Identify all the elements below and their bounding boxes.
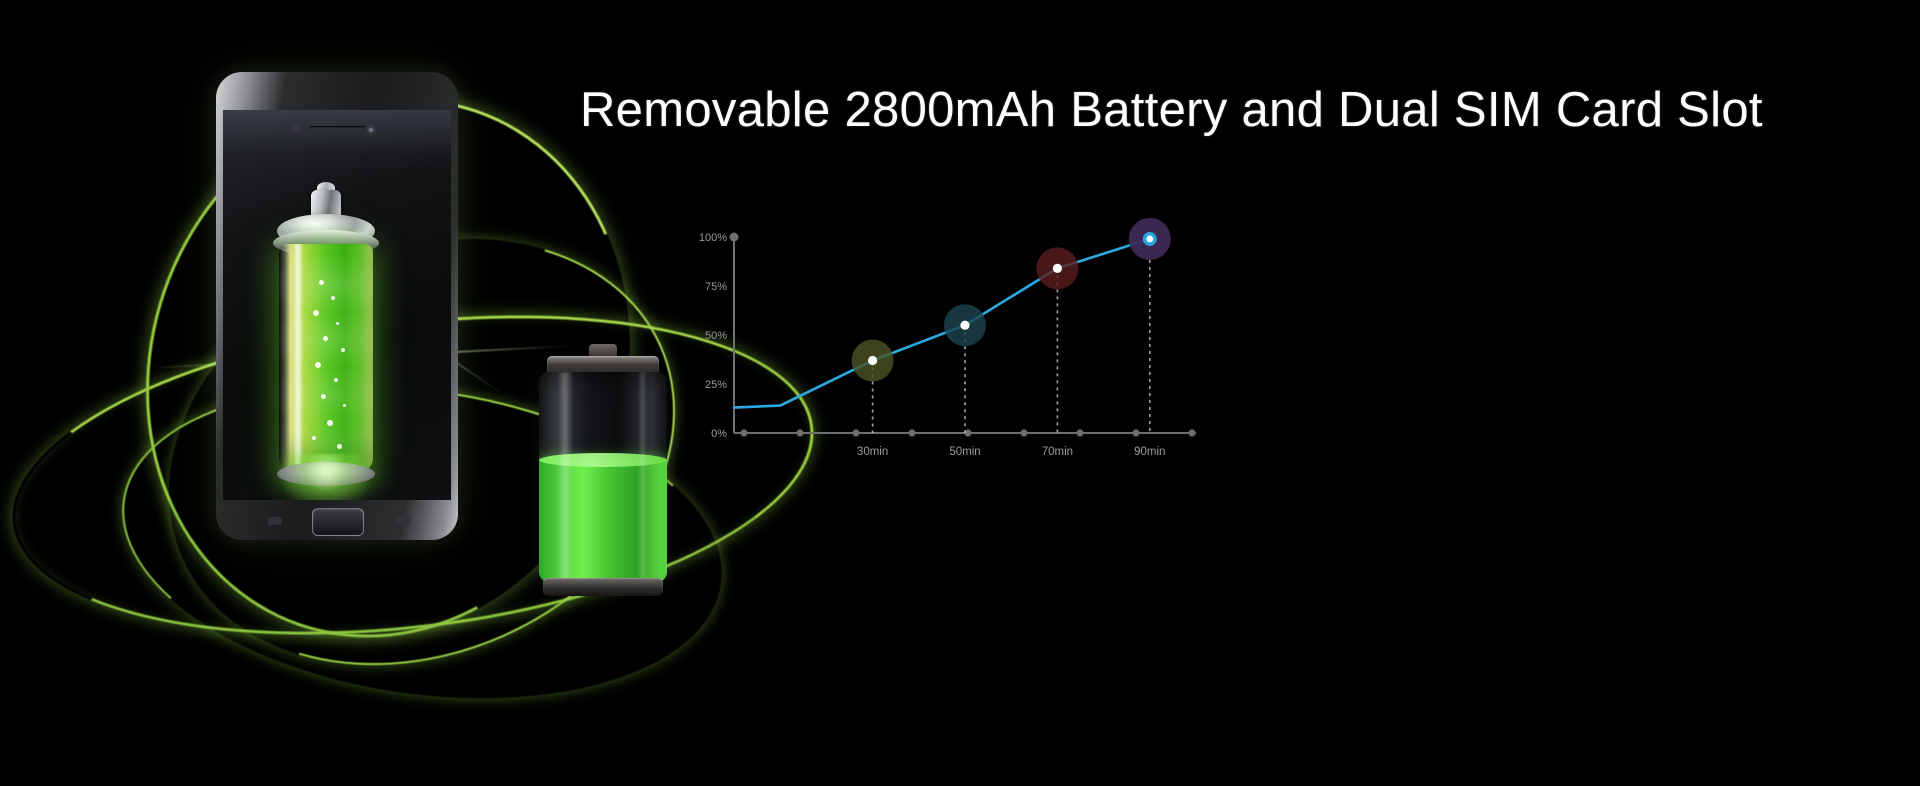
bubble (323, 336, 328, 341)
smartphone (216, 72, 458, 540)
nav-key-left[interactable] (268, 517, 282, 525)
point-halos (852, 218, 1171, 382)
y-axis-cap-dot (730, 233, 739, 242)
x-axis-dot (740, 429, 747, 436)
bubble (336, 322, 339, 325)
battery2-gloss-right (638, 372, 647, 582)
x-tick-70min: 70min (1042, 446, 1073, 458)
data-point-90min[interactable] (1146, 236, 1153, 243)
charging-speed-chart: 0%25%50%75%100% 30min50min70min90min (690, 215, 1210, 475)
x-axis-dot (852, 429, 859, 436)
x-axis-tick-labels: 30min50min70min90min (857, 446, 1166, 458)
y-tick-25%: 25% (705, 379, 727, 391)
bubble (315, 362, 321, 368)
battery2-shell (539, 372, 667, 582)
earpiece-speaker-icon (309, 126, 365, 131)
bubble (312, 436, 316, 440)
data-point-50min[interactable] (960, 321, 969, 330)
nav-key-right[interactable] (396, 517, 410, 525)
battery2-gloss-left (557, 372, 573, 582)
battery2-bottom-cap (543, 578, 663, 596)
bubble (331, 296, 335, 300)
phone-screen (223, 110, 451, 500)
data-point-70min[interactable] (1053, 264, 1062, 273)
y-tick-0%: 0% (711, 428, 727, 440)
bubble (313, 310, 319, 316)
x-axis-dot (1132, 429, 1139, 436)
x-axis-dot (1188, 429, 1195, 436)
battery-shine (293, 244, 303, 472)
x-axis-dot (908, 429, 915, 436)
battery-glow-flare (281, 454, 371, 500)
removable-battery (533, 342, 673, 598)
promo-banner: Removable 2800mAh Battery and Dual SIM C… (0, 0, 1920, 786)
phone-battery-illustration (263, 216, 389, 476)
x-tick-90min: 90min (1134, 446, 1165, 458)
front-camera-icon (292, 125, 300, 132)
x-axis-dot (796, 429, 803, 436)
battery-body (279, 244, 373, 472)
chart-line-series (734, 239, 1150, 408)
proximity-sensor-icon (369, 128, 373, 132)
bubble (334, 378, 338, 382)
data-point-30min[interactable] (868, 356, 877, 365)
y-tick-100%: 100% (699, 232, 727, 244)
bubble (327, 420, 333, 426)
y-axis-tick-labels: 0%25%50%75%100% (699, 232, 727, 440)
y-tick-75%: 75% (705, 281, 727, 293)
x-axis-dot (1076, 429, 1083, 436)
home-button[interactable] (312, 508, 364, 536)
bubble (343, 404, 346, 407)
screen-gloss (223, 110, 451, 172)
bubble (321, 394, 326, 399)
bubble (319, 280, 324, 285)
y-tick-50%: 50% (705, 330, 727, 342)
x-axis-dot (1020, 429, 1027, 436)
page-title: Removable 2800mAh Battery and Dual SIM C… (580, 82, 1910, 138)
point-drop-lines (873, 239, 1150, 433)
bubble (341, 348, 345, 352)
x-tick-30min: 30min (857, 446, 888, 458)
x-tick-50min: 50min (949, 446, 980, 458)
chart-svg: 0%25%50%75%100% 30min50min70min90min (690, 215, 1210, 475)
bubble (337, 444, 342, 449)
